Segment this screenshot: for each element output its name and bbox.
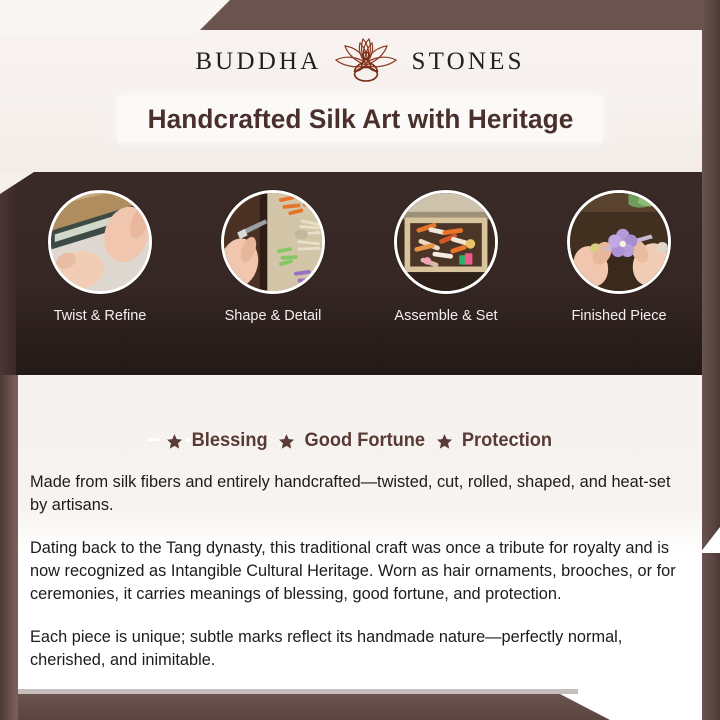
step-label: Twist & Refine: [35, 308, 165, 324]
description-paragraph: Each piece is unique; subtle marks refle…: [30, 625, 678, 671]
benefits-row: Blessing Good Fortune Protection: [0, 430, 720, 452]
process-steps-section: Twist & Refine: [0, 172, 720, 375]
description-paragraph: Made from silk fibers and entirely handc…: [30, 470, 678, 516]
benefit-item: Protection: [436, 430, 554, 452]
benefit-label: Blessing: [191, 430, 267, 452]
lotus-meditation-figure-icon: [333, 36, 399, 88]
star-icon: [278, 433, 295, 450]
frame-top-bevel: [200, 0, 720, 30]
frame-left-edge: [0, 375, 18, 720]
page-title: Handcrafted Silk Art with Heritage: [147, 104, 573, 135]
frame-right-edge: [702, 0, 720, 720]
step-label: Finished Piece: [554, 308, 684, 324]
header-corner-bevel: [0, 0, 230, 34]
description-paragraphs: Made from silk fibers and entirely handc…: [30, 470, 688, 671]
step-photo-assemble-set: [394, 190, 498, 294]
process-step: Twist & Refine: [35, 190, 165, 324]
logo-word-right: STONES: [411, 48, 524, 76]
star-icon: [436, 433, 453, 450]
logo-word-left: BUDDHA: [195, 48, 321, 76]
frame-bottom-shadow: [18, 689, 578, 694]
process-step: Finished Piece: [554, 190, 684, 324]
step-label: Shape & Detail: [208, 308, 338, 324]
benefit-item: Blessing: [166, 430, 269, 452]
process-steps-list: Twist & Refine: [0, 172, 720, 375]
description-paragraph: Dating back to the Tang dynasty, this tr…: [30, 536, 678, 605]
benefit-label: Good Fortune: [304, 430, 425, 452]
brand-logo: BUDDHA: [0, 36, 720, 88]
process-step: Assemble & Set: [381, 190, 511, 324]
star-icon: [166, 433, 183, 450]
step-photo-shape-detail: [221, 190, 325, 294]
step-photo-finished-piece: [567, 190, 671, 294]
benefit-item: Good Fortune: [278, 430, 428, 452]
step-label: Assemble & Set: [381, 308, 511, 324]
benefit-label: Protection: [462, 430, 552, 452]
headline-banner: Handcrafted Silk Art with Heritage: [118, 96, 602, 142]
step-photo-twist-refine: [48, 190, 152, 294]
process-step: Shape & Detail: [208, 190, 338, 324]
product-infographic: BUDDHA: [0, 0, 720, 720]
